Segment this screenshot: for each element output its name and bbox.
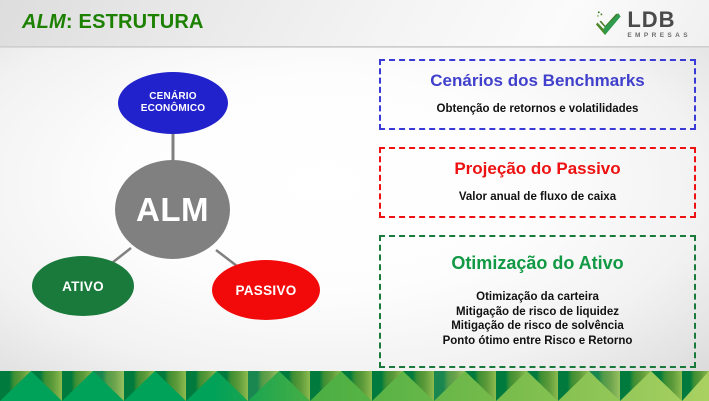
diagram-node-alm-label: ALM bbox=[136, 191, 209, 229]
panel-asset-optimization-body: Otimização da carteira Mitigação de risc… bbox=[443, 290, 633, 348]
panel-liability-projection[interactable]: Projeção do Passivo Valor anual de fluxo… bbox=[379, 147, 696, 218]
panel-asset-optimization-line-3: Mitigação de risco de solvência bbox=[443, 319, 633, 334]
panel-liability-projection-body: Valor anual de fluxo de caixa bbox=[459, 190, 616, 205]
panel-benchmarks-body: Obtenção de retornos e volatilidades bbox=[437, 102, 639, 117]
panel-asset-optimization-line-1: Otimização da carteira bbox=[443, 290, 633, 305]
panel-liability-projection-title: Projeção do Passivo bbox=[454, 158, 620, 179]
panel-asset-optimization-line-4: Ponto ótimo entre Risco e Retorno bbox=[443, 334, 633, 349]
logo-wordmark: LDB EMPRESAS bbox=[627, 9, 691, 40]
footer-decoration-band bbox=[0, 371, 709, 401]
green-triangle-band-icon bbox=[0, 371, 709, 401]
page-title-rest: : ESTRUTURA bbox=[66, 11, 204, 33]
logo-name: LDB bbox=[627, 9, 691, 31]
scenario-line-2: ECONÔMICO bbox=[141, 103, 206, 114]
diagram-node-liability[interactable]: PASSIVO bbox=[212, 260, 320, 320]
panel-asset-optimization-title: Otimização do Ativo bbox=[451, 253, 623, 274]
diagram-node-scenario-label: CENÁRIO ECONÔMICO bbox=[141, 91, 206, 115]
panel-liability-projection-line-1: Valor anual de fluxo de caixa bbox=[459, 190, 616, 205]
alm-structure-diagram: CENÁRIO ECONÔMICO ALM ATIVO PASSIVO bbox=[0, 48, 370, 371]
green-check-icon bbox=[594, 9, 624, 39]
diagram-node-asset[interactable]: ATIVO bbox=[32, 256, 134, 316]
panel-asset-optimization[interactable]: Otimização do Ativo Otimização da cartei… bbox=[379, 235, 696, 368]
logo-subtitle: EMPRESAS bbox=[627, 33, 691, 40]
page-title: ALM: ESTRUTURA bbox=[22, 11, 204, 34]
slide: ALM: ESTRUTURA LDB EMPRESAS bbox=[0, 0, 709, 401]
brand-logo: LDB EMPRESAS bbox=[594, 7, 691, 41]
diagram-node-alm[interactable]: ALM bbox=[115, 160, 230, 259]
slide-header: ALM: ESTRUTURA LDB EMPRESAS bbox=[0, 0, 709, 48]
scenario-line-1: CENÁRIO bbox=[149, 91, 197, 102]
diagram-node-liability-label: PASSIVO bbox=[235, 283, 296, 298]
panel-benchmarks-title: Cenários dos Benchmarks bbox=[430, 70, 644, 91]
diagram-node-asset-label: ATIVO bbox=[62, 279, 104, 294]
panel-asset-optimization-line-2: Mitigação de risco de liquidez bbox=[443, 305, 633, 320]
page-title-emphasis: ALM bbox=[22, 11, 66, 33]
diagram-node-scenario[interactable]: CENÁRIO ECONÔMICO bbox=[118, 72, 228, 134]
panel-benchmarks[interactable]: Cenários dos Benchmarks Obtenção de reto… bbox=[379, 59, 696, 130]
panel-benchmarks-line-1: Obtenção de retornos e volatilidades bbox=[437, 102, 639, 117]
